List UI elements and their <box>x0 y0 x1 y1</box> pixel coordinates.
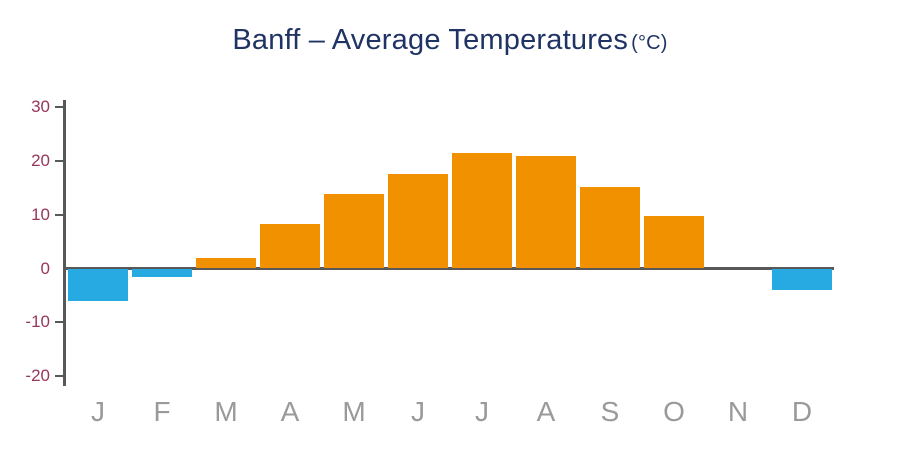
y-axis-tick-label: 0 <box>8 260 50 277</box>
x-axis-label-february: F <box>130 398 194 426</box>
x-axis-label-october: O <box>642 398 706 426</box>
chart-title-main: Banff – Average Temperatures <box>232 24 628 56</box>
bar-march <box>196 258 256 269</box>
y-axis-line <box>63 100 66 386</box>
y-axis-tick-label: -10 <box>8 313 50 330</box>
y-axis-tick-label-wrap: 20 <box>0 152 50 169</box>
y-axis-tick-label-wrap: -10 <box>0 313 50 330</box>
chart-title: Banff – Average Temperatures(°C) <box>0 24 900 57</box>
y-axis-tick-label-wrap: -20 <box>0 367 50 384</box>
bar-february <box>132 269 192 277</box>
x-axis-label-april: A <box>258 398 322 426</box>
y-axis-tick-label: -20 <box>8 367 50 384</box>
y-axis-tick-label: 30 <box>8 98 50 115</box>
bar-june <box>388 174 448 269</box>
y-axis-tick-label-wrap: 0 <box>0 260 50 277</box>
bar-april <box>260 224 320 268</box>
bar-october <box>644 216 704 269</box>
y-axis-tick <box>55 160 64 162</box>
bar-may <box>324 194 384 268</box>
x-axis-label-may: M <box>322 398 386 426</box>
y-axis-tick-label: 20 <box>8 152 50 169</box>
y-axis-tick-label: 10 <box>8 206 50 223</box>
chart-title-unit: (°C) <box>628 32 668 54</box>
bar-january <box>68 269 128 301</box>
x-axis-label-july: J <box>450 398 514 426</box>
y-axis-tick <box>55 321 64 323</box>
x-axis-label-june: J <box>386 398 450 426</box>
y-axis-tick <box>55 106 64 108</box>
y-axis-tick <box>55 375 64 377</box>
y-axis-tick-label-wrap: 30 <box>0 98 50 115</box>
y-axis-tick-label-wrap: 10 <box>0 206 50 223</box>
bar-september <box>580 187 640 269</box>
x-axis-label-january: J <box>66 398 130 426</box>
x-axis-label-december: D <box>770 398 834 426</box>
bar-july <box>452 153 512 269</box>
y-axis-tick <box>55 214 64 216</box>
bar-december <box>772 269 832 290</box>
temperature-bar-chart: Banff – Average Temperatures(°C) 3020100… <box>0 0 900 450</box>
x-axis-label-september: S <box>578 398 642 426</box>
bar-august <box>516 156 576 269</box>
x-axis-label-november: N <box>706 398 770 426</box>
x-axis-label-march: M <box>194 398 258 426</box>
x-axis-label-august: A <box>514 398 578 426</box>
